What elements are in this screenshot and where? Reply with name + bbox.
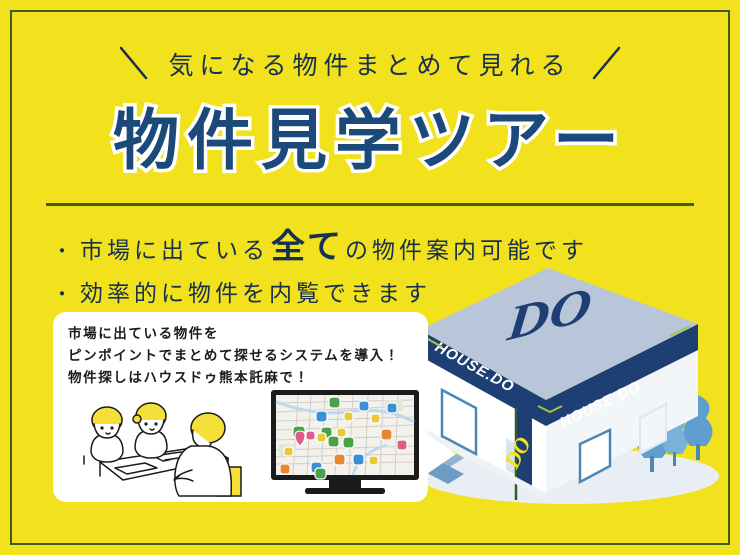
callout-illustrations [53, 384, 428, 502]
bullet-text-segment: 市場に出ている [80, 231, 269, 265]
callout-line: ピンポイントでまとめて探せるシステムを導入！ [68, 345, 418, 367]
section-divider [46, 203, 694, 206]
headline-text: 物件見学ツアー [113, 104, 627, 178]
bullet-marker: ・ [52, 242, 72, 262]
bullet-text-segment: 効率的に物件を内覧できます [80, 274, 431, 308]
headline: 物件見学ツアー [0, 104, 740, 178]
map-monitor-illustration [271, 390, 419, 494]
consultation-meeting-illustration [84, 403, 241, 496]
slash-decoration-right-icon [588, 44, 622, 84]
callout-tail [424, 432, 456, 476]
slash-decoration-left-icon [118, 44, 152, 84]
kicker-text: 気になる物件まとめて見れる [168, 46, 571, 82]
callout-line: 市場に出ている物件を [68, 323, 418, 345]
callout-text-block: 市場に出ている物件を ピンポイントでまとめて探せるシステムを導入！ 物件探しはハ… [68, 323, 418, 389]
list-item: ・ 市場に出ている 全て の物件案内可能です [52, 219, 588, 268]
bullet-text-segment: の物件案内可能です [345, 231, 588, 265]
bullet-marker: ・ [52, 285, 72, 305]
bullet-emphasis-segment: 全て [271, 219, 343, 268]
kicker-row: 気になる物件まとめて見れる [0, 44, 740, 84]
advertisement-banner: 気になる物件まとめて見れる 物件見学ツアー ・ 市場に出ている 全て の物件案内… [0, 0, 740, 555]
callout-card: 市場に出ている物件を ピンポイントでまとめて探せるシステムを導入！ 物件探しはハ… [53, 312, 428, 502]
